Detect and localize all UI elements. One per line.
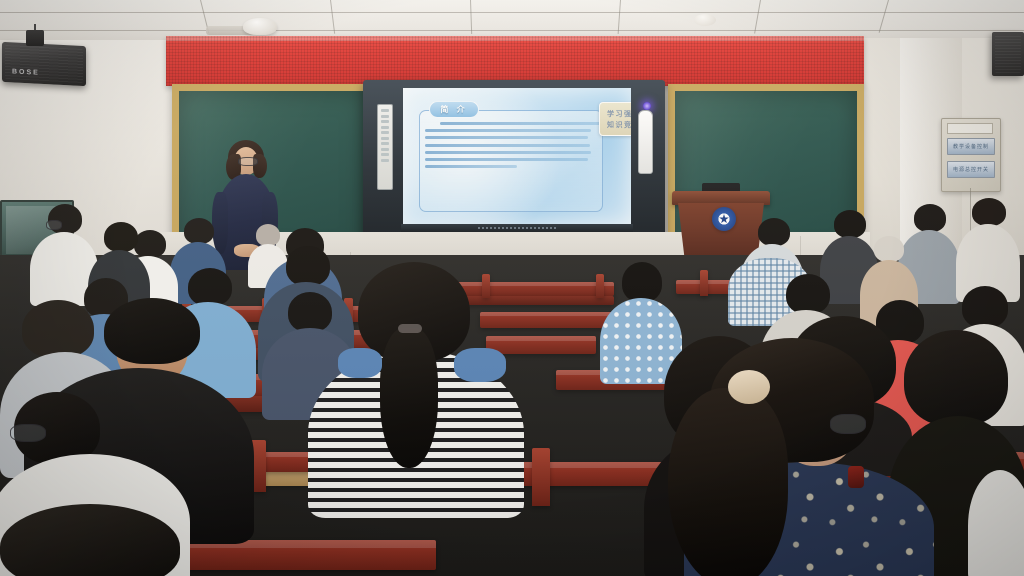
- control-button[interactable]: [381, 131, 389, 134]
- blue-collar: [454, 348, 506, 382]
- lectern-top: [672, 191, 770, 205]
- hair-tie: [398, 324, 422, 333]
- person-hair: [962, 286, 1008, 328]
- audience-member: [968, 470, 1024, 576]
- control-button[interactable]: [381, 142, 389, 145]
- speaker-mount-bracket: [26, 30, 44, 46]
- control-button[interactable]: [381, 126, 389, 129]
- ceiling-dome-light-icon: [243, 18, 277, 35]
- person-hair: [184, 218, 214, 244]
- banner-board: [166, 36, 864, 86]
- control-button[interactable]: [381, 153, 389, 156]
- hair-scrunchie: [728, 370, 770, 404]
- smoke-detector-icon: [694, 14, 716, 26]
- person-glasses-icon: [46, 220, 62, 230]
- control-button[interactable]: [381, 120, 389, 123]
- university-crest-icon: [712, 207, 736, 231]
- wall-control-panel[interactable]: 教学设备控制 电源总控开关: [941, 118, 1001, 192]
- audience-member: [956, 198, 1020, 298]
- slide-text-line: [425, 129, 591, 132]
- person-hair: [0, 504, 180, 576]
- person-hair: [834, 210, 866, 238]
- whiteboard-control-panel[interactable]: [377, 104, 393, 190]
- person-hair: [104, 298, 200, 364]
- slide-text-line: [425, 144, 590, 147]
- panel-plate-lower-label: 电源总控开关: [953, 166, 989, 173]
- lipstick-tube: [848, 466, 864, 488]
- slide-text-line: [425, 165, 517, 168]
- wall-speaker-right: [992, 32, 1024, 76]
- speaker-grille: [995, 35, 1021, 73]
- wall-speaker: BOSE: [2, 42, 86, 86]
- panel-plate-upper-label: 教学设备控制: [953, 143, 989, 150]
- floral-top-woman: [654, 330, 954, 576]
- slide-paragraph: [425, 122, 593, 204]
- person-hair: [972, 198, 1006, 226]
- person-hair: [104, 222, 138, 252]
- stylus-holder[interactable]: [638, 110, 653, 174]
- bench-post: [700, 270, 708, 296]
- person-glasses-icon: [830, 414, 866, 434]
- person-hair: [914, 204, 946, 232]
- whiteboard-bottom-bezel: [401, 224, 633, 232]
- panel-plate-lower[interactable]: 电源总控开关: [947, 161, 995, 178]
- speaker-brand-label: BOSE: [12, 68, 40, 76]
- slide-tag-line1: 学习强国: [607, 109, 631, 119]
- slide-text-line: [425, 158, 588, 161]
- ceiling-tile-line: [0, 12, 1024, 13]
- control-button[interactable]: [381, 109, 389, 112]
- control-button[interactable]: [381, 148, 389, 151]
- ceiling-tile-line: [0, 30, 1024, 31]
- slide-text-line: [425, 151, 591, 154]
- striped-shirt-woman: [296, 262, 532, 512]
- person-glasses-icon: [10, 424, 46, 442]
- slide-heading-badge: 简 介: [429, 101, 479, 118]
- person-hair: [622, 262, 662, 302]
- bench-post: [532, 448, 550, 506]
- control-button[interactable]: [381, 137, 389, 140]
- blue-collar: [338, 348, 382, 378]
- person-torso: [968, 470, 1024, 576]
- panel-plate-upper[interactable]: 教学设备控制: [947, 138, 995, 155]
- banner-highlight: [166, 36, 864, 41]
- audience-member: [0, 504, 230, 576]
- slide-tag-line2: 知识竞赛: [607, 120, 631, 130]
- person-hair: [786, 274, 830, 314]
- person-hair: [188, 268, 232, 306]
- presenter-glasses-icon: [238, 157, 258, 166]
- lecture-hall-photo: BOSE 简 介 学习强国: [0, 0, 1024, 576]
- interactive-whiteboard[interactable]: 简 介 学习强国 知识竞赛: [363, 80, 665, 242]
- speaker-grille: [5, 45, 83, 83]
- stylus-status-led-icon: [643, 102, 651, 110]
- person-hair: [874, 236, 904, 262]
- panel-label-strip: [947, 123, 993, 134]
- slide-text-line: [425, 136, 588, 139]
- control-button[interactable]: [381, 115, 389, 118]
- slide-text-line: [440, 122, 601, 125]
- ponytail: [380, 328, 438, 468]
- projection-screen[interactable]: 简 介 学习强国 知识竞赛: [403, 88, 631, 224]
- slide-corner-tag: 学习强国 知识竞赛: [599, 102, 631, 136]
- control-button[interactable]: [381, 159, 389, 162]
- person-hair: [758, 218, 790, 246]
- ponytail: [668, 388, 788, 576]
